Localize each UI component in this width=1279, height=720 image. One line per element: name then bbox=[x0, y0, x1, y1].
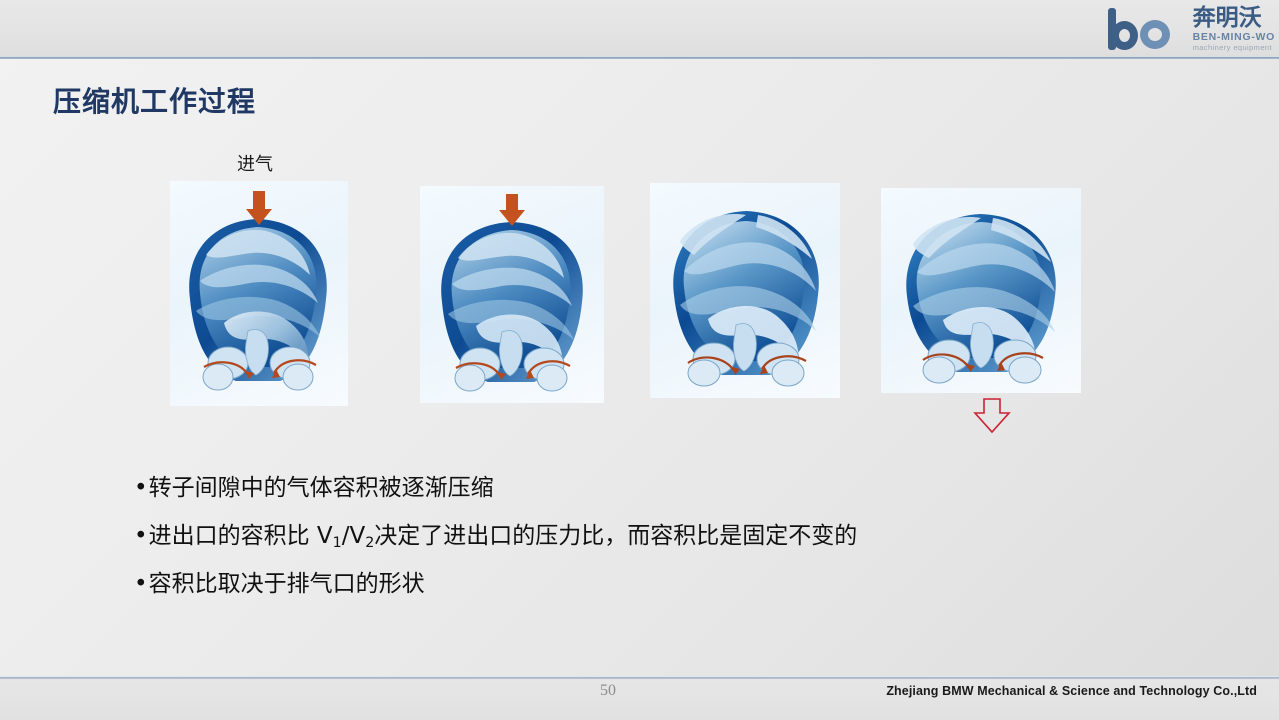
logo-english-name: BEN-MING-WO bbox=[1193, 32, 1275, 43]
bullet-subscript-2: 2 bbox=[365, 535, 374, 551]
bullet-text-prefix: 进出口的容积比 V bbox=[149, 523, 333, 549]
bullet-item-3: •容积比取决于排气口的形状 bbox=[134, 573, 1134, 596]
bullet-item-1: •转子间隙中的气体容积被逐渐压缩 bbox=[134, 477, 1134, 500]
intake-label: 进气 bbox=[237, 150, 273, 176]
logo-letter-b bbox=[1108, 8, 1138, 50]
footer-company-name: Zhejiang BMW Mechanical & Science and Te… bbox=[886, 684, 1257, 698]
rotor-image-stage-2 bbox=[420, 186, 604, 403]
page-title: 压缩机工作过程 bbox=[53, 80, 256, 120]
bullet-marker: • bbox=[134, 571, 148, 597]
bullet-text: 转子间隙中的气体容积被逐渐压缩 bbox=[149, 475, 494, 501]
bo-monogram-icon bbox=[1106, 7, 1190, 51]
bullet-text: 容积比取决于排气口的形状 bbox=[149, 571, 425, 597]
rotor-image-stage-1 bbox=[170, 181, 348, 406]
bullet-item-2: •进出口的容积比 V1/V2决定了进出口的压力比，而容积比是固定不变的 bbox=[134, 525, 1134, 548]
slide-canvas: 奔明沃 BEN-MING-WO machinery equipment 压缩机工… bbox=[0, 0, 1279, 720]
bullet-marker: • bbox=[134, 475, 148, 501]
page-number: 50 bbox=[600, 682, 616, 700]
company-logo: 奔明沃 BEN-MING-WO machinery equipment bbox=[1079, 2, 1275, 56]
bullet-marker: • bbox=[134, 523, 148, 549]
header-divider bbox=[0, 56, 1279, 59]
bullet-text-suffix: 决定了进出口的压力比，而容积比是固定不变的 bbox=[374, 523, 857, 549]
bullet-list: •转子间隙中的气体容积被逐渐压缩 •进出口的容积比 V1/V2决定了进出口的压力… bbox=[134, 477, 1134, 621]
logo-chinese-name: 奔明沃 bbox=[1193, 7, 1262, 30]
logo-letter-o bbox=[1140, 20, 1170, 49]
rotor-image-stage-4 bbox=[881, 188, 1081, 393]
logo-tagline: machinery equipment bbox=[1193, 44, 1272, 52]
exhaust-arrow-icon bbox=[971, 398, 1013, 434]
rotor-image-stage-3 bbox=[650, 183, 840, 398]
intake-arrow-icon bbox=[499, 194, 525, 226]
bullet-text-mid: /V bbox=[342, 523, 365, 549]
logo-text-block: 奔明沃 BEN-MING-WO machinery equipment bbox=[1193, 7, 1275, 52]
bullet-subscript-1: 1 bbox=[333, 535, 342, 551]
